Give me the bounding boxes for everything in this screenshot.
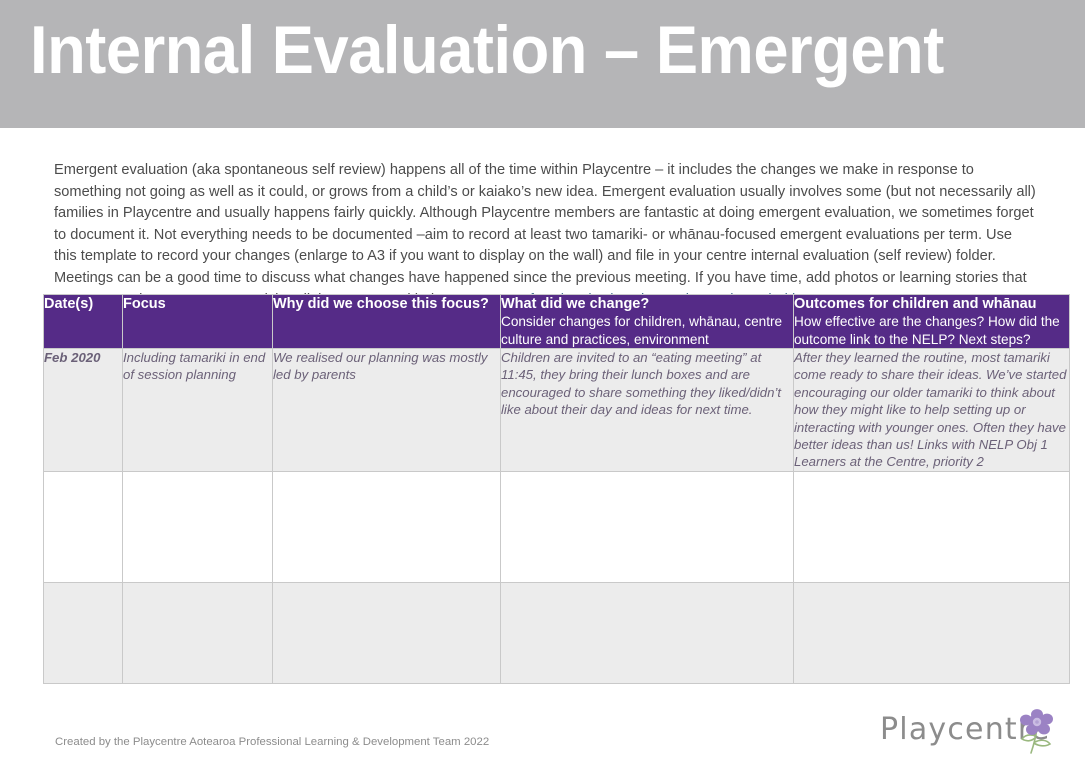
table-row[interactable]	[44, 582, 1070, 683]
column-title: Why did we choose this focus?	[273, 295, 500, 313]
playcentre-logo: Playcentre	[880, 706, 1060, 758]
column-header-why: Why did we choose this focus?	[273, 295, 501, 349]
table-row[interactable]: Feb 2020 Including tamariki in end of se…	[44, 349, 1070, 472]
cell-change[interactable]	[501, 471, 794, 582]
table-header-row: Date(s) Focus Why did we choose this foc…	[44, 295, 1070, 349]
cell-outcomes[interactable]: After they learned the routine, most tam…	[794, 349, 1070, 472]
table-header: Date(s) Focus Why did we choose this foc…	[44, 295, 1070, 349]
table-body: Feb 2020 Including tamariki in end of se…	[44, 349, 1070, 684]
cell-outcomes[interactable]	[794, 471, 1070, 582]
column-header-outcomes: Outcomes for children and whānau How eff…	[794, 295, 1070, 349]
cell-focus[interactable]: Including tamariki in end of session pla…	[123, 349, 273, 472]
intro-paragraph: Emergent evaluation (aka spontaneous sel…	[54, 160, 1037, 311]
column-title: What did we change?	[501, 295, 793, 313]
cell-why[interactable]: We realised our planning was mostly led …	[273, 349, 501, 472]
column-header-change: What did we change? Consider changes for…	[501, 295, 794, 349]
cell-why[interactable]	[273, 582, 501, 683]
column-header-focus: Focus	[123, 295, 273, 349]
column-title: Date(s)	[44, 295, 122, 313]
column-title: Outcomes for children and whānau	[794, 295, 1069, 313]
page-title: Internal Evaluation – Emergent	[30, 8, 944, 93]
footer-credit: Created by the Playcentre Aotearoa Profe…	[55, 736, 489, 748]
cell-change[interactable]: Children are invited to an “eating meeti…	[501, 349, 794, 472]
column-subtitle: Consider changes for children, whānau, c…	[501, 313, 793, 348]
intro-body-text: Emergent evaluation (aka spontaneous sel…	[54, 162, 1036, 308]
column-subtitle: How effective are the changes? How did t…	[794, 313, 1069, 348]
cell-date[interactable]	[44, 471, 123, 582]
cell-focus[interactable]	[123, 471, 273, 582]
cell-date[interactable]	[44, 582, 123, 683]
cell-date[interactable]: Feb 2020	[44, 349, 123, 472]
title-banner: Internal Evaluation – Emergent	[0, 0, 1085, 128]
column-title: Focus	[123, 295, 272, 313]
cell-why[interactable]	[273, 471, 501, 582]
table-row[interactable]	[44, 471, 1070, 582]
cell-change[interactable]	[501, 582, 794, 683]
evaluation-table: Date(s) Focus Why did we choose this foc…	[43, 294, 1070, 684]
cell-focus[interactable]	[123, 582, 273, 683]
cell-outcomes[interactable]	[794, 582, 1070, 683]
column-header-dates: Date(s)	[44, 295, 123, 349]
flower-icon	[1018, 706, 1062, 761]
